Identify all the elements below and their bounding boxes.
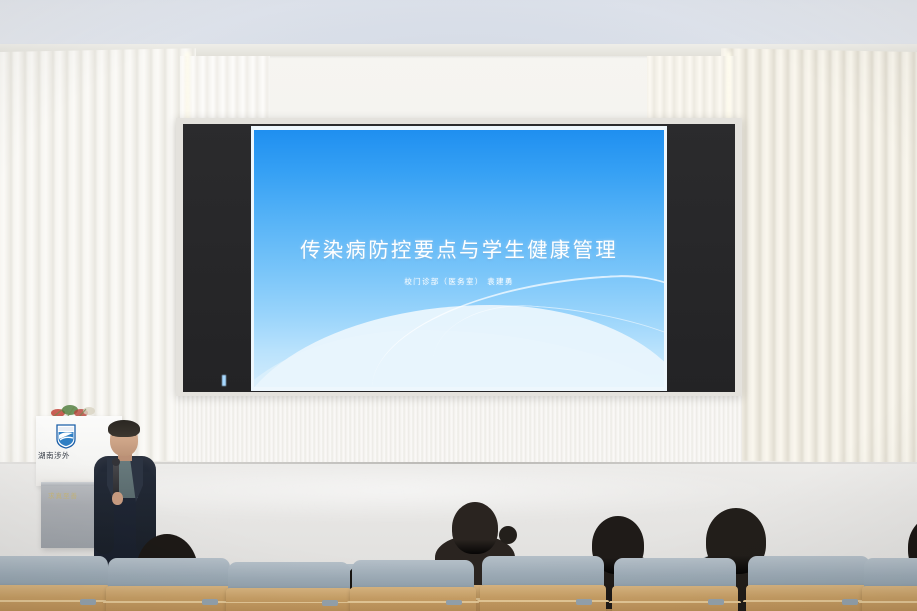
seat-backrest (352, 560, 474, 590)
school-crest-icon (56, 424, 76, 449)
seat-front-row-5[interactable] (482, 556, 604, 611)
seat-backrest (482, 556, 604, 588)
wall-panel-below-screen (176, 392, 742, 468)
seat-front-row-6[interactable] (614, 558, 736, 611)
seat-backrest (748, 556, 870, 588)
microphone-icon (113, 462, 119, 496)
hair-bun (499, 526, 517, 544)
seat-clip (708, 599, 724, 605)
seat-front-row-1[interactable] (0, 556, 108, 611)
seat-front-row-8[interactable] (864, 558, 917, 611)
seat-wood-top-edge (0, 600, 113, 602)
seat-clip (80, 599, 96, 605)
seat-front-row-4[interactable] (352, 560, 474, 611)
seat-clip (576, 599, 592, 605)
seat-backrest (0, 556, 108, 588)
seat-backrest (108, 558, 230, 589)
seat-front-row-3[interactable] (228, 562, 350, 611)
seat-wood-top-edge (859, 601, 917, 603)
microphone-head-icon (112, 458, 120, 466)
seat-wood-panel (862, 586, 917, 611)
slide-subtitle: 校门诊部（医务室） 袁建勇 (254, 276, 664, 287)
seat-backrest (864, 558, 917, 589)
seat-backrest (614, 558, 736, 589)
fluted-wall-panel-right (721, 48, 917, 464)
seat-clip (842, 599, 858, 605)
seat-clip (446, 600, 462, 605)
seat-front-row-2[interactable] (108, 558, 230, 611)
screen-light-hotspot (222, 375, 226, 386)
speaker-hand (112, 492, 123, 505)
seat-clip (322, 600, 338, 605)
head (452, 502, 498, 554)
seat-backrest (228, 562, 350, 591)
slide-canvas: 传染病防控要点与学生健康管理 校门诊部（医务室） 袁建勇 (254, 130, 664, 387)
seat-front-row-7[interactable] (748, 556, 870, 611)
projected-slide[interactable]: 传染病防控要点与学生健康管理 校门诊部（医务室） 袁建勇 (251, 126, 667, 391)
lecture-hall-scene: 传染病防控要点与学生健康管理 校门诊部（医务室） 袁建勇 湖南涉外 求真至善 (0, 0, 917, 611)
slide-title: 传染病防控要点与学生健康管理 (254, 233, 664, 263)
seat-clip (202, 599, 218, 605)
speaker-glasses (112, 435, 136, 440)
